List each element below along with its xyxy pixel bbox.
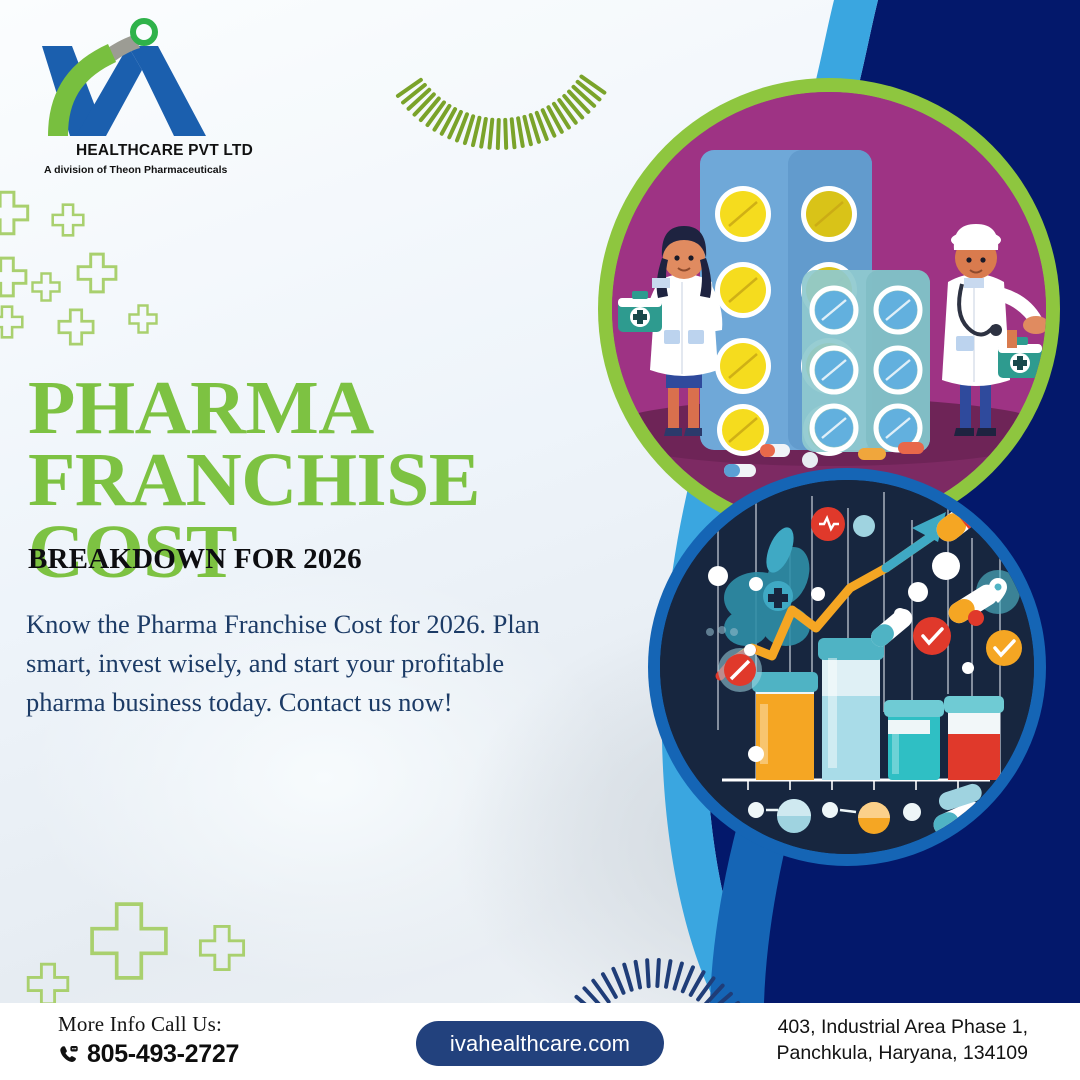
website-label: ivahealthcare.com bbox=[450, 1031, 630, 1057]
contact-call-block: More Info Call Us: 805-493-2727 bbox=[58, 1012, 239, 1069]
cross-icon bbox=[88, 900, 170, 982]
check-badge-red bbox=[913, 617, 951, 655]
address-block: 403, Industrial Area Phase 1, Panchkula,… bbox=[728, 1015, 1028, 1066]
iva-monogram-icon bbox=[24, 18, 224, 148]
footer-divider bbox=[0, 1003, 1080, 1005]
poster-canvas: HEALTHCARE PVT LTD A division of Theon P… bbox=[0, 0, 1080, 1080]
cross-icon bbox=[128, 304, 158, 334]
subheading: BREAKDOWN FOR 2026 bbox=[28, 543, 628, 576]
phone-number[interactable]: 805-493-2727 bbox=[87, 1040, 239, 1069]
green-radial-burst bbox=[370, 0, 630, 150]
address-line-1: 403, Industrial Area Phase 1, bbox=[728, 1015, 1028, 1041]
heartbeat-badge bbox=[811, 507, 845, 541]
address-line-2: Panchkula, Haryana, 134109 bbox=[728, 1041, 1028, 1067]
cross-icon bbox=[198, 924, 246, 972]
company-logo: HEALTHCARE PVT LTD A division of Theon P… bbox=[24, 18, 224, 168]
body-copy: Know the Pharma Franchise Cost for 2026.… bbox=[26, 605, 586, 723]
pharmacists-blister-pack-scene bbox=[612, 92, 1046, 526]
no-entry-badge bbox=[718, 648, 762, 692]
cross-icon bbox=[0, 256, 28, 298]
cross-icon bbox=[31, 272, 61, 302]
cross-icon bbox=[0, 305, 24, 339]
phone-handset-icon bbox=[58, 1044, 80, 1066]
cross-icon bbox=[0, 190, 30, 236]
teal-vial bbox=[884, 700, 944, 780]
check-badge-orange bbox=[986, 630, 1022, 666]
logo-tagline: A division of Theon Pharmaceuticals bbox=[44, 164, 234, 176]
red-vial bbox=[944, 696, 1004, 780]
website-button[interactable]: ivahealthcare.com bbox=[416, 1021, 664, 1066]
bottom-circle-illustration bbox=[648, 468, 1046, 866]
cross-icon bbox=[51, 203, 85, 237]
logo-company-name: HEALTHCARE PVT LTD bbox=[76, 142, 228, 160]
call-label: More Info Call Us: bbox=[58, 1012, 239, 1037]
cross-icon bbox=[76, 252, 118, 294]
clear-vial bbox=[818, 638, 884, 780]
cross-icon bbox=[57, 308, 95, 346]
orange-vial bbox=[752, 672, 818, 780]
cross-icon bbox=[26, 962, 70, 1006]
vials-growth-chart-scene bbox=[660, 480, 1034, 854]
